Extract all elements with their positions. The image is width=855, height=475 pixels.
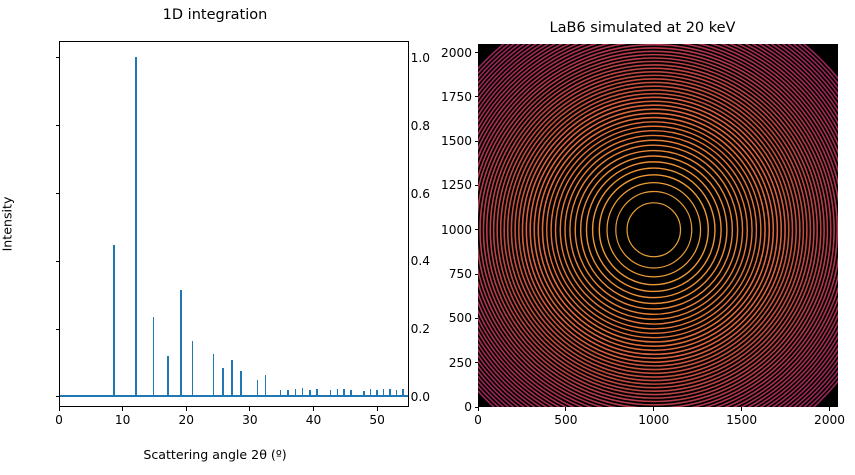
diffraction-rings	[478, 44, 838, 407]
diffraction-peak	[280, 390, 282, 396]
diffraction-ring	[547, 122, 761, 338]
right-x-tick-mark	[478, 407, 479, 411]
diffraction-peak	[350, 390, 352, 396]
left-y-axis-label: Intensity	[0, 197, 15, 252]
diffraction-peak	[167, 356, 169, 396]
diffraction-peak	[240, 371, 242, 396]
left-x-tick-mark	[377, 407, 378, 411]
left-x-tick-label: 50	[369, 413, 385, 427]
diffraction-peak	[343, 389, 345, 396]
right-x-tick-label: 1500	[726, 413, 757, 427]
right-x-tick-mark	[741, 407, 742, 411]
diffraction-ring	[607, 183, 701, 277]
diffraction-ring	[551, 126, 756, 333]
diffraction-peak	[231, 360, 233, 396]
diffraction-peak	[135, 57, 137, 396]
diffraction-ring	[490, 65, 817, 395]
diffraction-peak	[213, 354, 215, 396]
left-x-tick-mark	[186, 407, 187, 411]
diffraction-ring	[478, 45, 837, 407]
left-plot-frame	[59, 41, 409, 407]
diffraction-ring	[560, 135, 747, 324]
left-x-tick-label: 30	[242, 413, 258, 427]
right-y-tick-label: 1500	[441, 134, 472, 148]
matplotlib-figure: 1D integration 0.00.20.40.60.81.0 010203…	[0, 0, 855, 475]
right-x-tick-label: 2000	[814, 413, 845, 427]
diffraction-ring	[522, 97, 785, 362]
diffraction-peak	[330, 390, 332, 395]
diffraction-peak	[265, 375, 267, 396]
diffraction-ring	[494, 68, 814, 391]
left-x-tick-mark	[122, 407, 123, 411]
left-x-tick-mark	[313, 407, 314, 411]
diffraction-ring	[581, 156, 727, 303]
left-x-tick-label: 10	[115, 413, 131, 427]
diffraction-peak	[153, 317, 155, 396]
right-x-tick-label: 0	[474, 413, 482, 427]
right-y-tick-label: 250	[449, 356, 472, 370]
diffraction-ring	[511, 86, 796, 373]
left-x-tick-label: 20	[179, 413, 195, 427]
left-x-tick-mark	[59, 407, 60, 411]
diffraction-ring	[504, 79, 803, 381]
right-x-tick-label: 500	[554, 413, 577, 427]
left-x-tick-mark	[249, 407, 250, 411]
diffraction-peak	[222, 368, 224, 396]
diffraction-ring	[530, 105, 777, 354]
right-y-tick-label: 1000	[441, 223, 472, 237]
diffraction-ring	[497, 72, 810, 388]
left-axes-title: 1D integration	[0, 7, 430, 23]
detector-image	[478, 44, 838, 407]
diffraction-ring	[519, 94, 789, 366]
diffraction-peak	[287, 390, 289, 396]
right-axes-title: LaB6 simulated at 20 keV	[430, 20, 855, 36]
left-x-tick-label: 40	[306, 413, 322, 427]
right-x-tick-mark	[829, 407, 830, 411]
right-axes-lab6-image: LaB6 simulated at 20 keV 025050075010001…	[430, 0, 855, 475]
right-y-tick-label: 500	[449, 311, 472, 325]
diffraction-peak	[383, 389, 385, 396]
right-x-tick-mark	[565, 407, 566, 411]
diffraction-peak	[316, 389, 318, 396]
diffraction-peak	[370, 389, 372, 395]
right-y-tick-label: 0	[464, 400, 472, 414]
diffraction-peak	[257, 380, 259, 396]
diffraction-peak	[295, 389, 297, 396]
diffraction-peak	[309, 390, 311, 396]
diffraction-peak	[302, 388, 304, 395]
diffraction-peak	[192, 341, 194, 396]
left-x-axis-label: Scattering angle 2θ (º)	[0, 447, 430, 462]
right-x-tick-mark	[653, 407, 654, 411]
diffraction-ring	[593, 168, 715, 291]
diffraction-ring	[627, 203, 680, 257]
left-x-tick-label: 0	[55, 413, 63, 427]
right-y-tick-label: 1250	[441, 178, 472, 192]
left-plot-area	[60, 42, 408, 406]
diffraction-ring	[487, 61, 821, 398]
diffraction-peak	[389, 389, 391, 395]
diffraction-peak	[376, 390, 378, 396]
diffraction-peak	[363, 391, 365, 396]
diffraction-ring	[565, 140, 743, 319]
diffraction-ring	[556, 131, 753, 329]
diffraction-ring	[538, 113, 769, 346]
diffraction-peak	[337, 389, 339, 395]
diffraction-peak	[402, 389, 404, 396]
right-y-tick-label: 1750	[441, 90, 472, 104]
diffraction-ring	[570, 145, 738, 314]
right-x-tick-label: 1000	[638, 413, 669, 427]
right-y-tick-label: 2000	[441, 46, 472, 60]
diffraction-peak	[113, 245, 115, 396]
diffraction-ring	[515, 90, 792, 370]
left-axes-1d-integration: 1D integration 0.00.20.40.60.81.0 010203…	[0, 0, 430, 475]
diffraction-peak	[180, 290, 182, 395]
right-y-tick-label: 750	[449, 267, 472, 281]
diffraction-peak	[396, 390, 398, 396]
diffraction-ring	[480, 55, 827, 405]
